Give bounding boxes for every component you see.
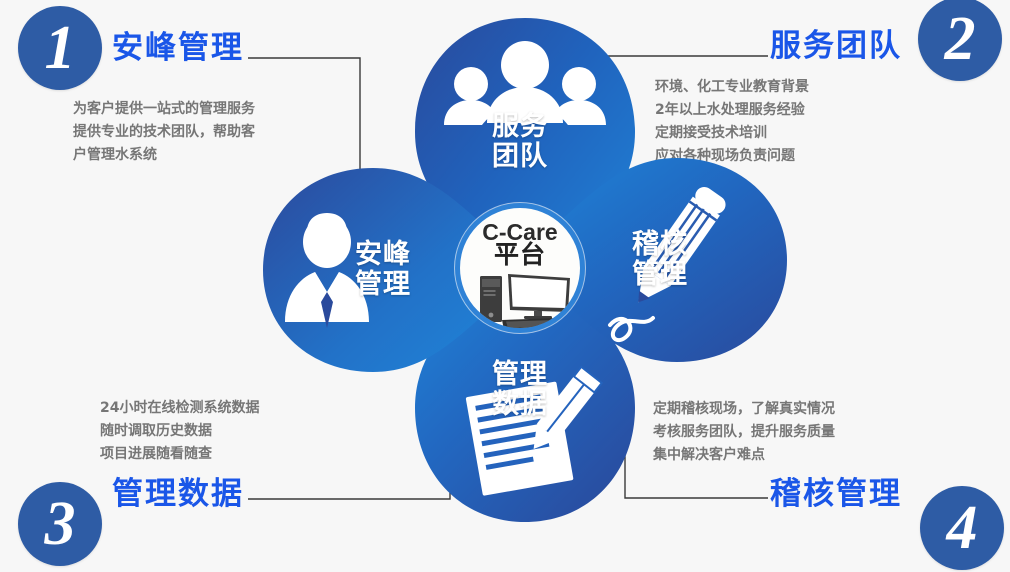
desktop-computer-icon <box>478 270 574 332</box>
section-heading-1: 安峰管理 <box>112 22 244 67</box>
section-number-badge-4: 4 <box>920 486 1004 570</box>
section-body-1-line-2: 提供专业的技术团队，帮助客 <box>73 121 255 144</box>
section-body-3-line-1: 24小时在线检测系统数据 <box>100 397 259 420</box>
badge-number-2: 2 <box>945 8 976 70</box>
section-body-3-line-3: 项目进展随看随查 <box>100 443 259 466</box>
hub-subtitle: 平台 <box>460 242 580 268</box>
section-number-badge-2: 2 <box>918 0 1002 81</box>
center-hub[interactable]: C-Care 平台 <box>455 203 585 333</box>
section-body-3-line-2: 随时调取历史数据 <box>100 420 259 443</box>
badge-number-3: 3 <box>45 493 76 555</box>
badge-number-4: 4 <box>947 497 978 559</box>
section-number-badge-1: 1 <box>18 6 102 90</box>
section-body-1: 为客户提供一站式的管理服务 提供专业的技术团队，帮助客 户管理水系统 <box>73 98 255 167</box>
section-body-1-line-1: 为客户提供一站式的管理服务 <box>73 98 255 121</box>
badge-number-1: 1 <box>45 17 76 79</box>
diagram-canvas: 1 2 3 4 安峰管理 服务团队 管理数据 稽核管理 为客户提供一站式的管理服… <box>0 0 1010 572</box>
section-number-badge-3: 3 <box>18 482 102 566</box>
section-body-1-line-3: 户管理水系统 <box>73 144 255 167</box>
section-body-3: 24小时在线检测系统数据 随时调取历史数据 项目进展随看随查 <box>100 397 259 466</box>
section-heading-3: 管理数据 <box>112 468 244 513</box>
